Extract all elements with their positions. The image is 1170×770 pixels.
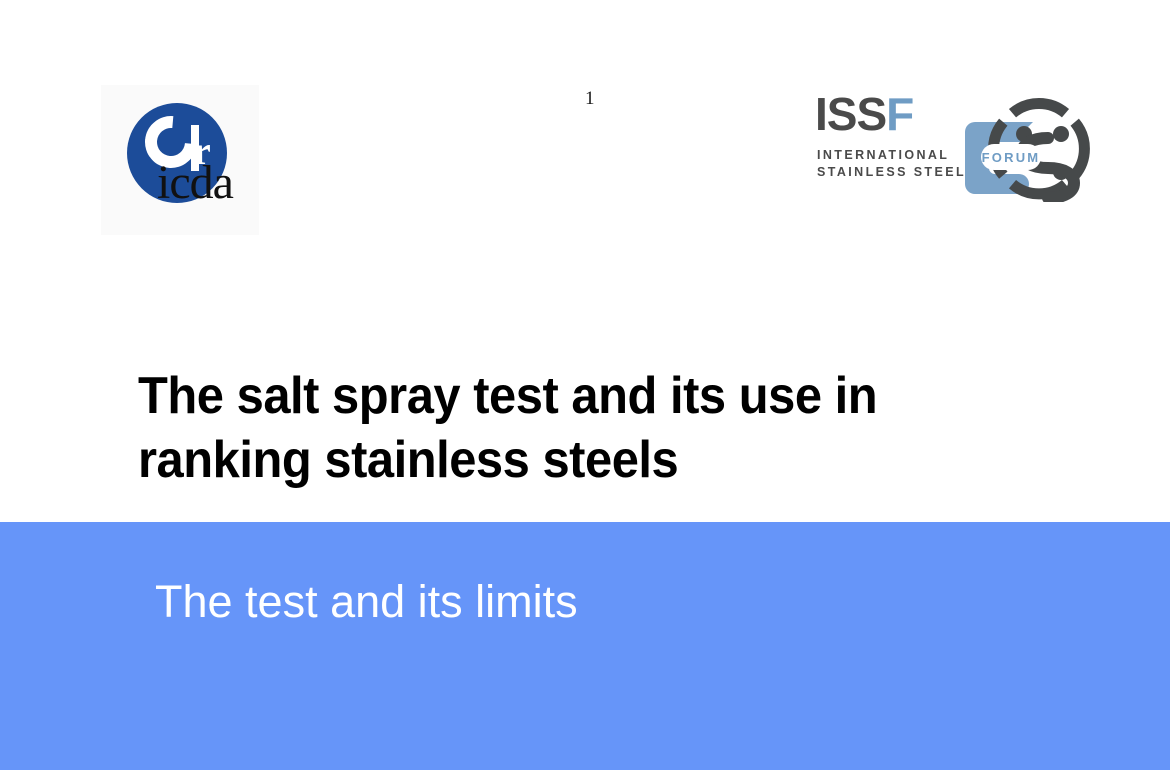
issf-wordmark: ISSF bbox=[815, 91, 913, 137]
issf-wordmark-f: F bbox=[886, 88, 913, 140]
slide-canvas: r icda 1 ISSF INTERNATIONAL STAINLESS ST… bbox=[0, 0, 1170, 770]
issf-subtitle: INTERNATIONAL STAINLESS STEEL bbox=[817, 147, 966, 181]
icda-logo: r icda bbox=[101, 85, 259, 235]
icda-wordmark: icda bbox=[157, 159, 233, 207]
issf-emblem-icon: FORUM bbox=[945, 82, 1105, 202]
page-number: 1 bbox=[585, 88, 595, 110]
section-banner bbox=[0, 522, 1170, 770]
section-banner-title: The test and its limits bbox=[155, 572, 578, 632]
slide-title: The salt spray test and its use in ranki… bbox=[138, 364, 965, 492]
issf-subtitle-line1: INTERNATIONAL bbox=[817, 147, 966, 164]
issf-logo: ISSF INTERNATIONAL STAINLESS STEEL bbox=[815, 82, 1105, 202]
issf-wordmark-iss: ISS bbox=[815, 88, 886, 140]
issf-subtitle-line2: STAINLESS STEEL bbox=[817, 164, 966, 181]
issf-forum-badge-label: FORUM bbox=[982, 150, 1041, 165]
